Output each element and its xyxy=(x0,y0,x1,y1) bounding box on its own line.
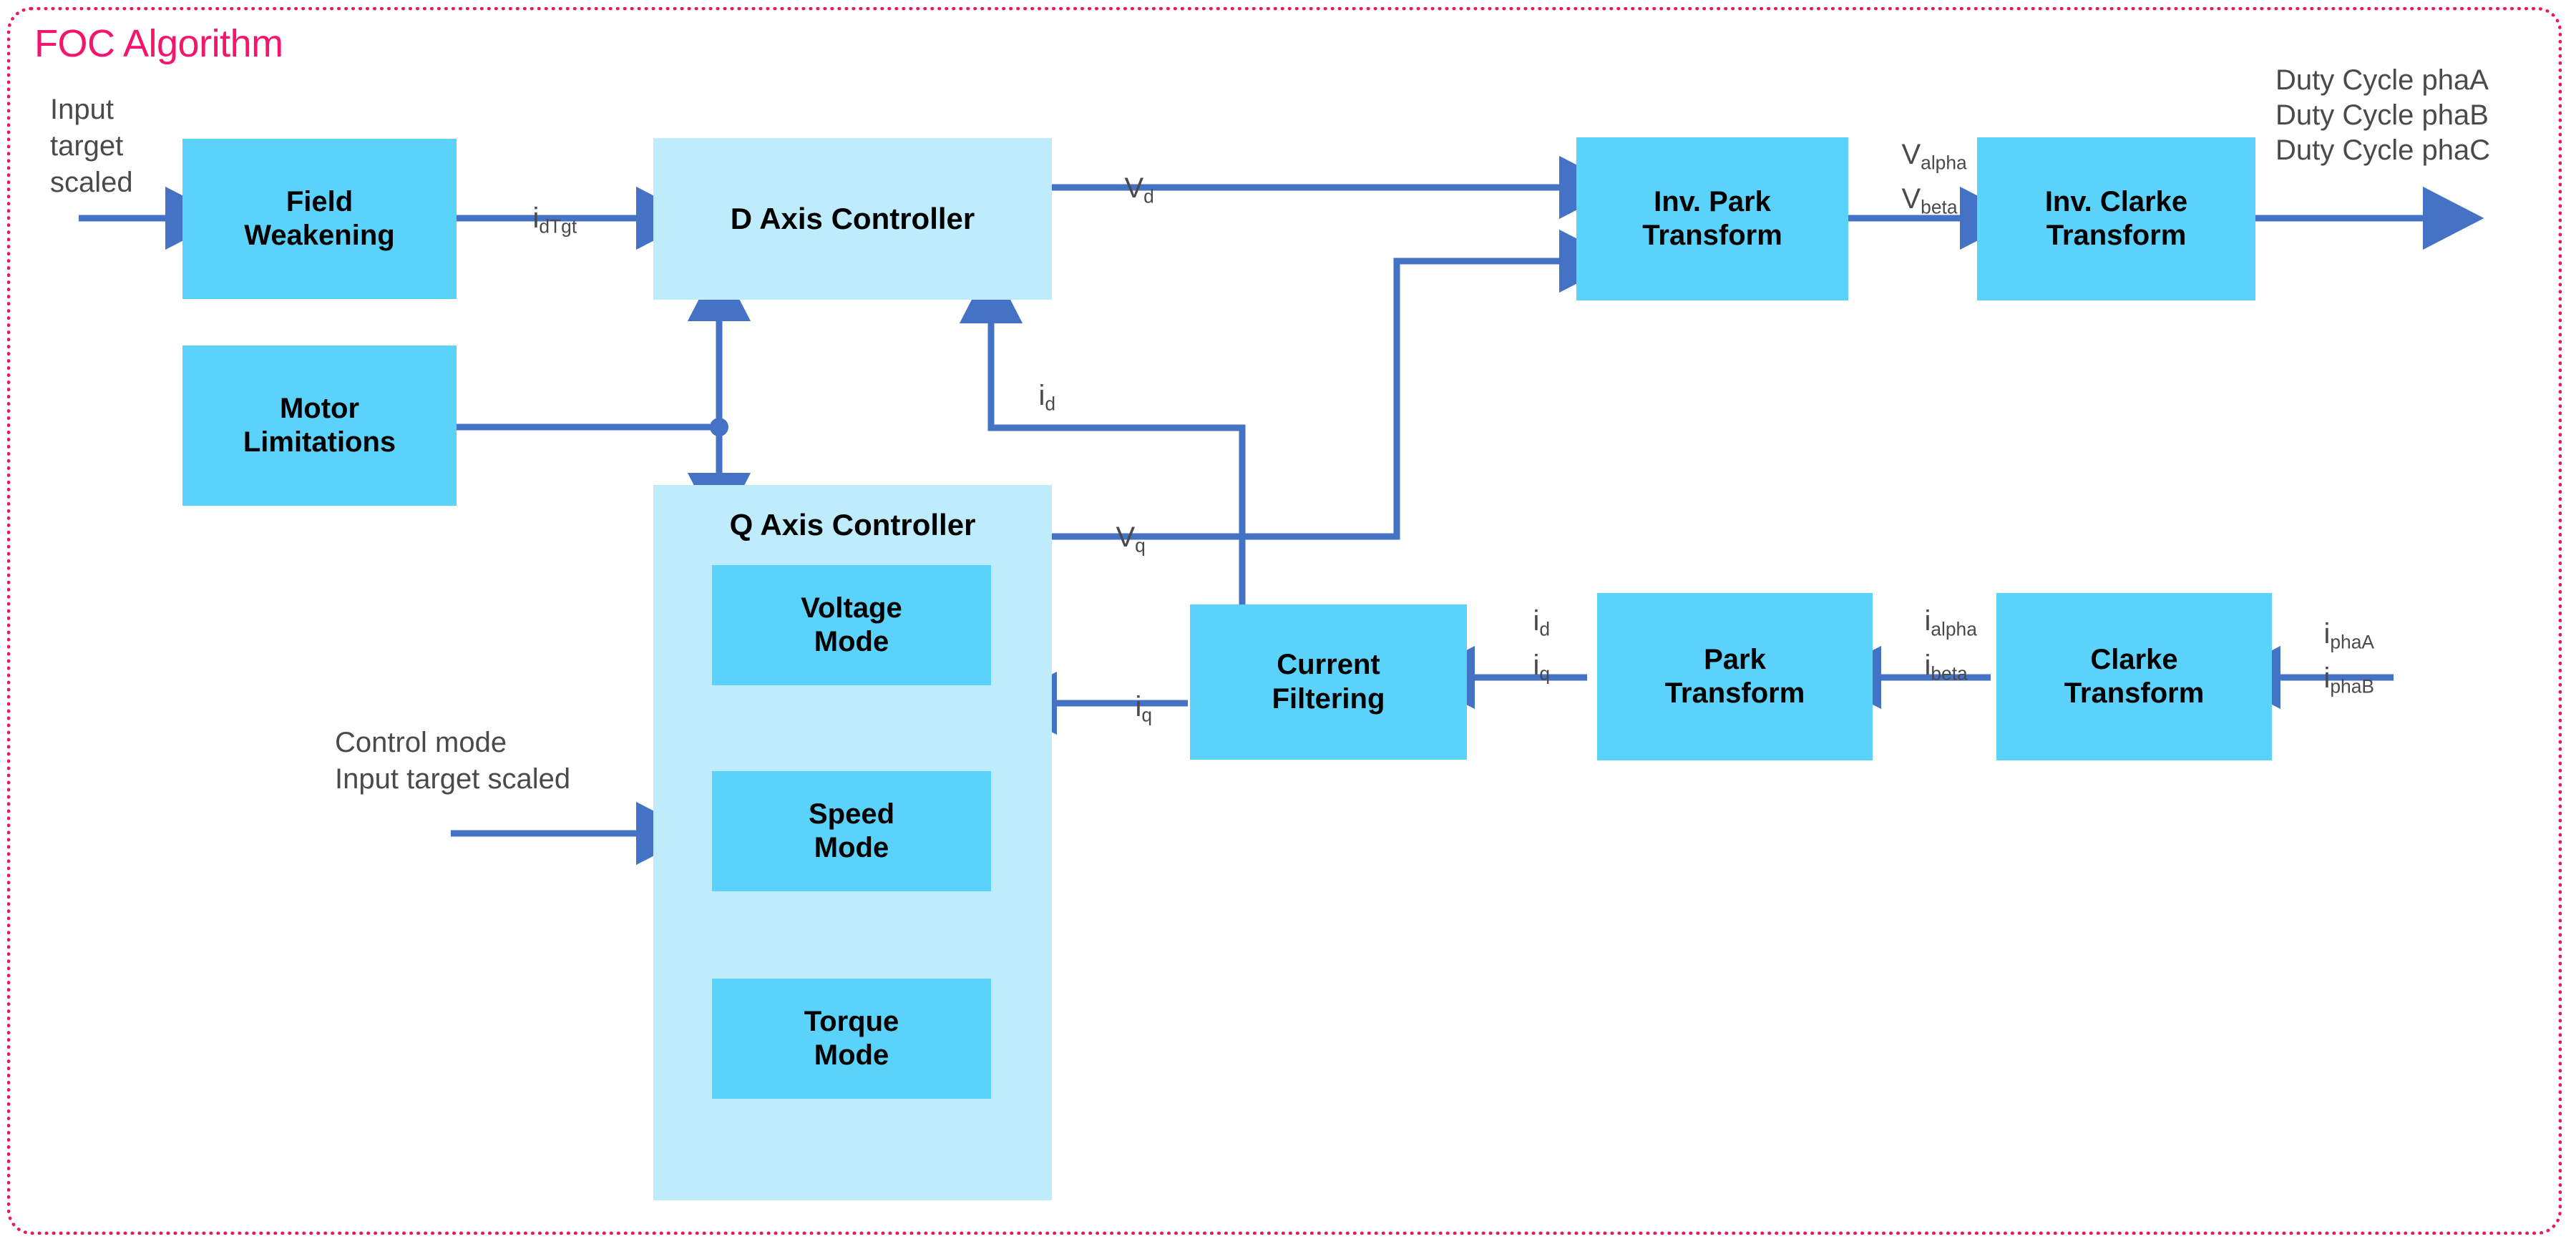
block-inv-clarke-transform[interactable]: Inv. Clarke Transform xyxy=(1977,137,2255,300)
clarke-transform-line2: Transform xyxy=(2064,677,2205,709)
label-duty-cycles: Duty Cycle phaADuty Cycle phaBDuty Cycle… xyxy=(2275,63,2490,167)
label-i-phaB: iphaB xyxy=(2292,626,2374,733)
block-field-weakening[interactable]: Field Weakening xyxy=(182,139,457,299)
label-i-beta: ibeta xyxy=(1893,613,1968,720)
i-dTgt-sub: dTgt xyxy=(539,215,577,237)
motor-limitations-line1: Motor xyxy=(280,393,359,424)
label-v-beta: Vbeta xyxy=(1870,147,1958,253)
field-weakening-line2: Weakening xyxy=(244,220,394,251)
park-transform-line1: Park xyxy=(1704,644,1766,675)
diagram-title: FOC Algorithm xyxy=(34,21,283,66)
v-beta-base: V xyxy=(1901,183,1921,215)
current-filtering-line2: Filtering xyxy=(1272,683,1385,715)
voltage-mode-line1: Voltage xyxy=(801,592,902,624)
torque-mode-line2: Mode xyxy=(814,1039,889,1071)
block-inv-park-transform[interactable]: Inv. Park Transform xyxy=(1576,137,1848,300)
i-phaB-base: i xyxy=(2323,662,2330,694)
i-q-feedback-sub: q xyxy=(1141,704,1152,725)
i-phaB-sub: phaB xyxy=(2330,675,2374,697)
i-q-cf-base: i xyxy=(1533,650,1539,681)
current-filtering-line1: Current xyxy=(1277,649,1380,680)
label-i-d-feedback: id xyxy=(1007,343,1055,450)
q-axis-controller-title: Q Axis Controller xyxy=(653,508,1052,542)
block-q-axis-controller[interactable]: Q Axis Controller Voltage Mode Speed Mod… xyxy=(653,485,1052,1200)
block-voltage-mode[interactable]: Voltage Mode xyxy=(712,565,991,685)
i-dTgt-base: i xyxy=(532,202,539,234)
inv-clarke-line2: Transform xyxy=(2046,220,2187,251)
torque-mode-line1: Torque xyxy=(804,1006,899,1037)
park-transform-line2: Transform xyxy=(1665,677,1805,709)
label-v-d: Vd xyxy=(1093,136,1154,243)
i-q-cf-sub: q xyxy=(1539,662,1550,684)
foc-algorithm-diagram: FOC Algorithm xyxy=(0,0,2576,1249)
block-d-axis-controller[interactable]: D Axis Controller xyxy=(653,138,1052,300)
voltage-mode-line2: Mode xyxy=(814,626,889,657)
label-i-dTgt: idTgt xyxy=(501,166,577,273)
label-i-q-feedback: iq xyxy=(1103,655,1152,761)
d-axis-controller-title: D Axis Controller xyxy=(731,201,975,237)
v-beta-sub: beta xyxy=(1921,196,1957,217)
speed-mode-line2: Mode xyxy=(814,832,889,863)
speed-mode-line1: Speed xyxy=(809,798,894,830)
v-q-sub: q xyxy=(1135,534,1146,556)
label-v-q: Vq xyxy=(1084,485,1146,592)
clarke-transform-line1: Clarke xyxy=(2090,644,2177,675)
i-beta-sub: beta xyxy=(1931,662,1967,684)
inv-clarke-line1: Inv. Clarke xyxy=(2045,186,2187,217)
i-beta-base: i xyxy=(1924,650,1931,681)
v-d-sub: d xyxy=(1143,185,1154,207)
i-d-feedback-base: i xyxy=(1038,380,1045,411)
block-motor-limitations[interactable]: Motor Limitations xyxy=(182,346,457,506)
block-clarke-transform[interactable]: Clarke Transform xyxy=(1996,593,2272,760)
block-speed-mode[interactable]: Speed Mode xyxy=(712,771,991,891)
label-input-target-scaled: Inputtargetscaled xyxy=(50,92,133,202)
v-q-base: V xyxy=(1116,521,1135,553)
block-park-transform[interactable]: Park Transform xyxy=(1597,593,1873,760)
field-weakening-line1: Field xyxy=(286,186,353,217)
v-d-base: V xyxy=(1124,172,1143,204)
i-q-feedback-base: i xyxy=(1135,691,1141,723)
inv-park-line1: Inv. Park xyxy=(1654,186,1771,217)
motor-limitations-line2: Limitations xyxy=(243,426,396,458)
block-torque-mode[interactable]: Torque Mode xyxy=(712,979,991,1099)
label-i-q-current-filtering: iq xyxy=(1501,613,1550,720)
label-control-mode-input-target: Control modeInput target scaled xyxy=(335,725,570,798)
inv-park-line2: Transform xyxy=(1642,220,1782,251)
junction-dot-motor-limitations xyxy=(710,418,728,436)
i-d-feedback-sub: d xyxy=(1045,393,1055,414)
block-current-filtering[interactable]: Current Filtering xyxy=(1190,604,1467,760)
